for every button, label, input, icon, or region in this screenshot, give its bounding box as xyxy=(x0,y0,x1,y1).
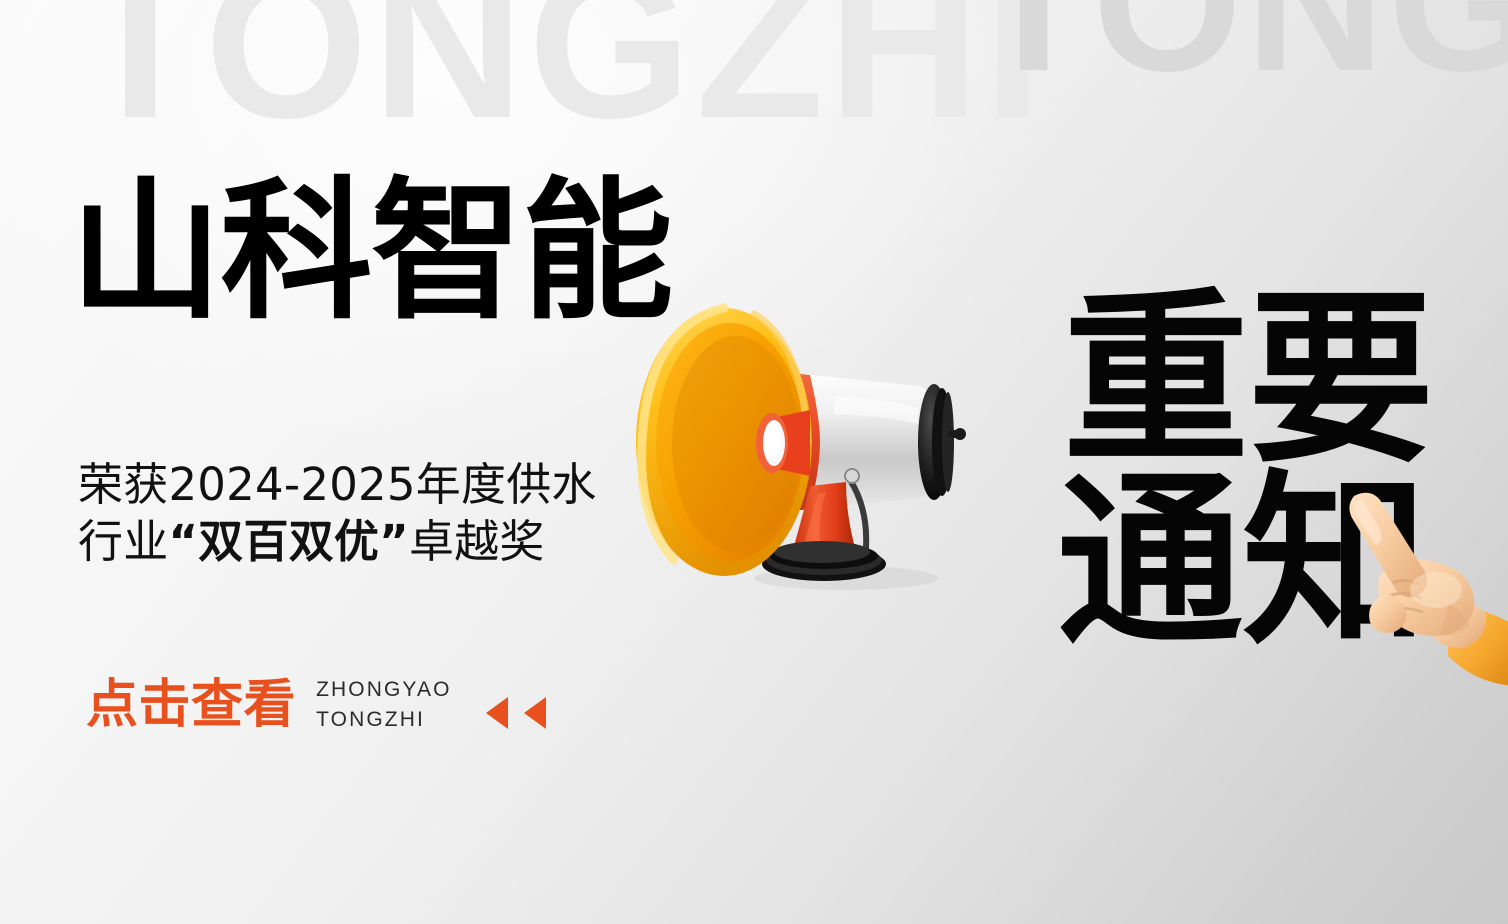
cta-arrows[interactable] xyxy=(486,697,546,729)
watermark-tongzhi-main: TONGZHI xyxy=(76,0,1047,150)
page-title: 山科智能 xyxy=(70,176,672,328)
cta-pinyin-line-2: TONGZHI xyxy=(316,705,451,735)
triangle-left-icon[interactable] xyxy=(486,697,508,729)
promo-banner: TONGZHI TONGZHI xyxy=(0,0,1508,924)
subtitle-line-2-pre: 行业 xyxy=(78,515,168,568)
subtitle-line-1: 荣获2024-2025年度供水 xyxy=(78,457,597,514)
subtitle-line-2-post: 卓越奖 xyxy=(409,515,545,568)
cta-group[interactable]: 点击查看 ZHONGYAO TONGZHI xyxy=(86,675,546,736)
subtitle-line-2-highlight: “双百双优” xyxy=(168,515,409,568)
watermark-tongzhi-right: TONGZHI xyxy=(975,0,1508,100)
pointing-hand-icon xyxy=(1336,486,1508,686)
subtitle: 荣获2024-2025年度供水 行业“双百双优”卓越奖 xyxy=(78,457,597,570)
cta-pinyin: ZHONGYAO TONGZHI xyxy=(316,675,451,736)
subtitle-line-2: 行业“双百双优”卓越奖 xyxy=(78,514,597,571)
triangle-left-icon[interactable] xyxy=(524,697,546,729)
cta-pinyin-line-1: ZHONGYAO xyxy=(316,675,451,705)
headline-line-1: 重要 xyxy=(1063,289,1433,471)
cta-label[interactable]: 点击查看 xyxy=(86,679,296,731)
